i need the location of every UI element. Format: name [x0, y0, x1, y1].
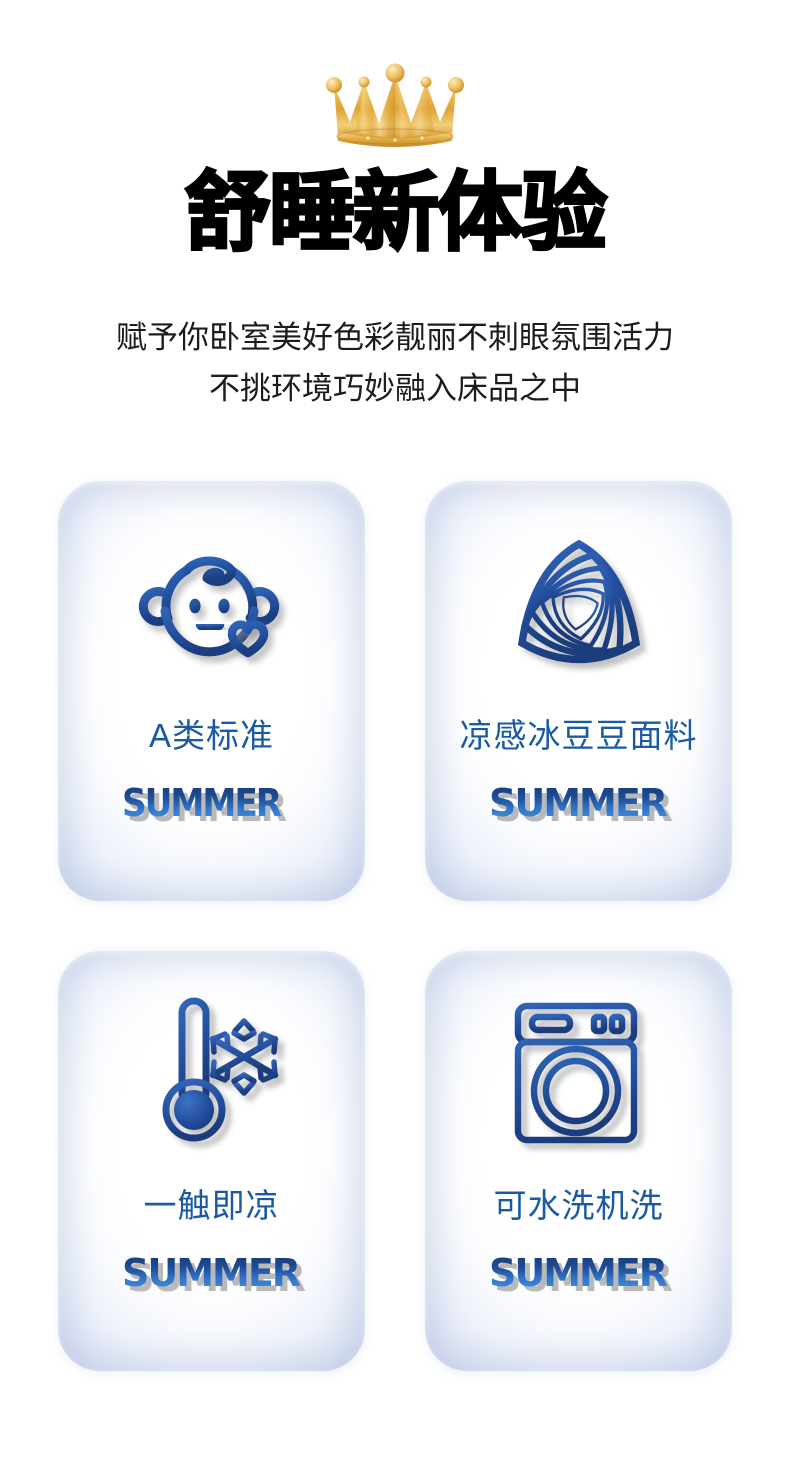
feature-card-label: A类标准 [149, 717, 274, 755]
thermometer-snowflake-icon [136, 951, 288, 1181]
summer-wordmark-text: SUMMER [489, 781, 668, 825]
summer-wordmark: SUMMER SUMMER [119, 781, 305, 832]
page-title: 舒睡新体验 [0, 163, 790, 263]
summer-wordmark: SUMMER SUMMER [119, 1251, 305, 1302]
subtitle-line-2: 不挑环境巧妙融入床品之中 [0, 363, 790, 414]
summer-wordmark: SUMMER SUMMER [486, 781, 672, 832]
summer-wordmark: SUMMER SUMMER [486, 1251, 672, 1302]
feature-card-machine-washable[interactable]: 可水洗机洗 SUMMER SUMMER [425, 951, 732, 1371]
subtitle-line-1: 赋予你卧室美好色彩靓丽不刺眼氛围活力 [0, 312, 790, 363]
feature-card-a-class-standard[interactable]: A类标准 SUMMER SUMMER [58, 481, 365, 901]
crown-icon [0, 58, 790, 150]
feature-card-label: 凉感冰豆豆面料 [460, 717, 698, 755]
feature-card-grid: A类标准 SUMMER SUMMER [58, 481, 732, 1371]
summer-wordmark-text: SUMMER [122, 781, 282, 825]
feature-card-label: 一触即凉 [144, 1187, 280, 1225]
fabric-knot-spiral-icon [496, 481, 662, 711]
summer-wordmark-text: SUMMER [122, 1251, 301, 1295]
washing-machine-icon [504, 951, 654, 1181]
summer-wordmark-text: SUMMER [489, 1251, 668, 1295]
page-subtitle: 赋予你卧室美好色彩靓丽不刺眼氛围活力 不挑环境巧妙融入床品之中 [0, 312, 790, 414]
feature-card-cool-ice-bead-fabric[interactable]: 凉感冰豆豆面料 SUMMER SUMMER [425, 481, 732, 901]
feature-card-instant-cool-touch[interactable]: 一触即凉 SUMMER SUMMER [58, 951, 365, 1371]
baby-face-heart-icon [124, 481, 300, 711]
feature-card-label: 可水洗机洗 [494, 1187, 664, 1225]
